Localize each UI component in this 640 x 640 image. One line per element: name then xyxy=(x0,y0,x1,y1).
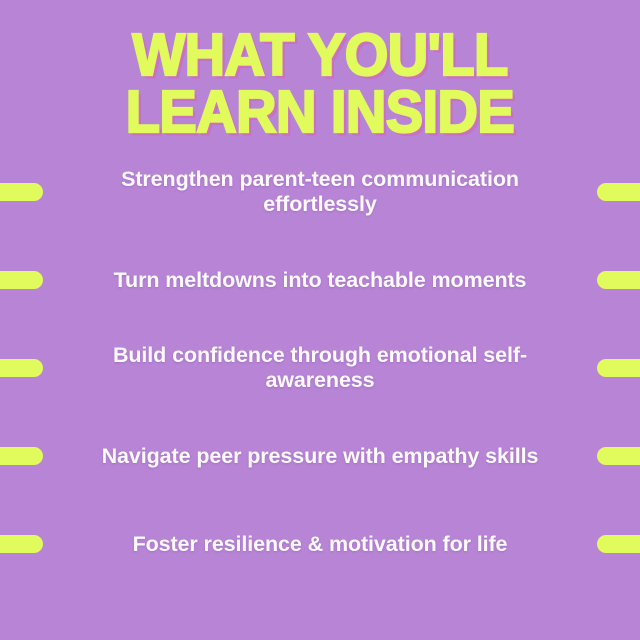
feature-text: Turn meltdowns into teachable moments xyxy=(85,268,555,293)
pill-bullet-left-icon xyxy=(0,271,43,289)
title-line-2: LEARN INSIDE xyxy=(0,85,640,139)
pill-bullet-right-icon xyxy=(597,359,640,377)
pill-bullet-left-icon xyxy=(0,535,43,553)
list-item: Navigate peer pressure with empathy skil… xyxy=(0,412,640,500)
feature-list: Strengthen parent-teen communication eff… xyxy=(0,148,640,588)
pill-bullet-right-icon xyxy=(597,535,640,553)
feature-text: Foster resilience & motivation for life xyxy=(85,532,555,557)
pill-bullet-right-icon xyxy=(597,447,640,465)
pill-bullet-right-icon xyxy=(597,271,640,289)
promo-poster: WHAT YOU'LL LEARN INSIDE Strengthen pare… xyxy=(0,0,640,640)
feature-text: Build confidence through emotional self-… xyxy=(85,343,555,393)
list-item: Turn meltdowns into teachable moments xyxy=(0,236,640,324)
feature-text: Navigate peer pressure with empathy skil… xyxy=(85,444,555,469)
list-item: Strengthen parent-teen communication eff… xyxy=(0,148,640,236)
pill-bullet-left-icon xyxy=(0,183,43,201)
pill-bullet-right-icon xyxy=(597,183,640,201)
feature-text: Strengthen parent-teen communication eff… xyxy=(85,167,555,217)
pill-bullet-left-icon xyxy=(0,359,43,377)
title-line-1: WHAT YOU'LL xyxy=(0,28,640,82)
list-item: Foster resilience & motivation for life xyxy=(0,500,640,588)
list-item: Build confidence through emotional self-… xyxy=(0,324,640,412)
pill-bullet-left-icon xyxy=(0,447,43,465)
page-title: WHAT YOU'LL LEARN INSIDE xyxy=(0,28,640,131)
